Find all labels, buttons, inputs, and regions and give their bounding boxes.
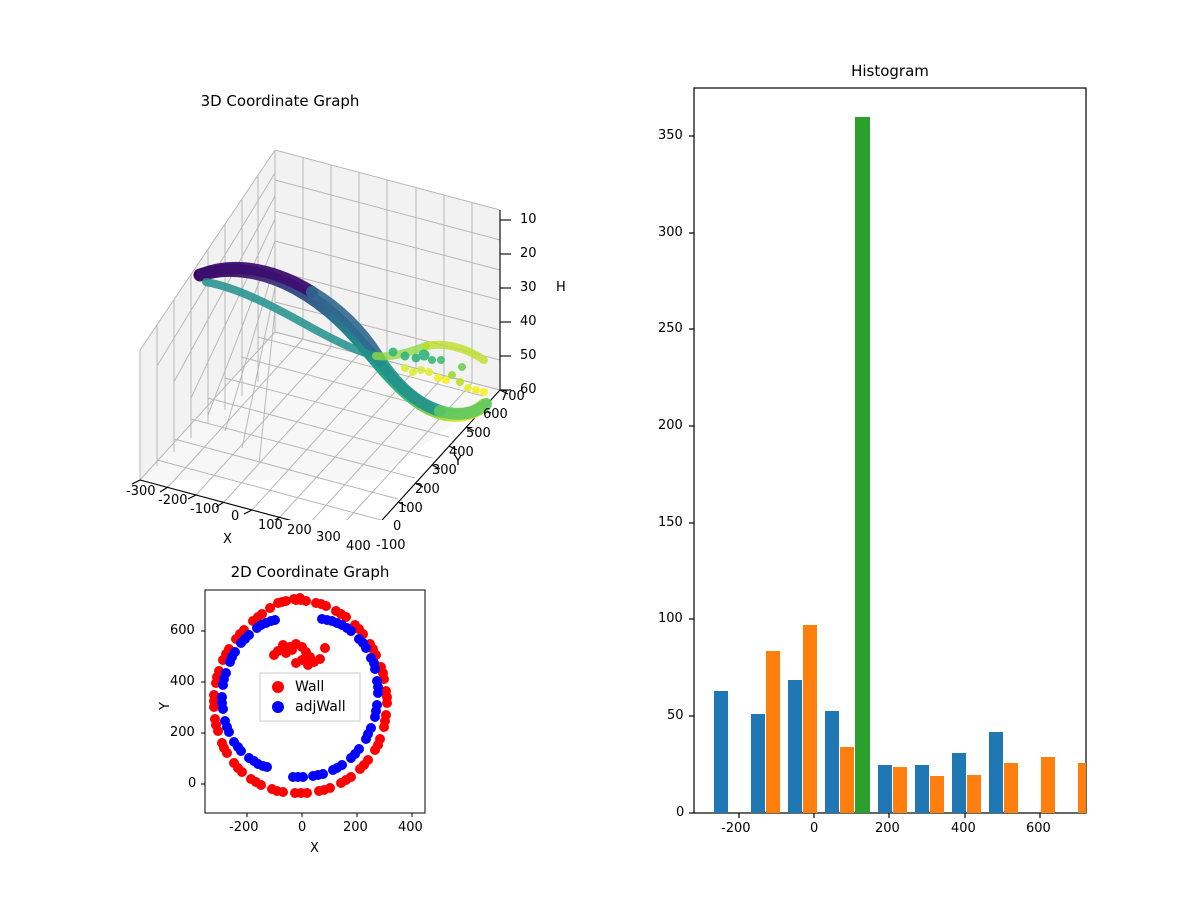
bar-orange-8: [1004, 763, 1018, 813]
tick-3d-x--100: -100: [190, 502, 220, 517]
plot-histogram: Histogram: [620, 55, 1180, 865]
tick-3d-x-0: 0: [231, 509, 239, 524]
tick-2d-y-400: 400: [170, 674, 195, 689]
tick-3d-x-200: 200: [287, 523, 312, 538]
tick-hist-x-0: 0: [810, 821, 818, 836]
ticks-y-hist: [689, 136, 694, 813]
tick-hist-y-50: 50: [667, 708, 684, 723]
tick-hist-y-100: 100: [658, 611, 683, 626]
legend-marker-wall: [272, 681, 284, 693]
bar-orange-2: [766, 651, 780, 813]
tick-hist-y-150: 150: [658, 515, 683, 530]
tick-3d-y-600: 600: [483, 407, 508, 422]
bar-blue-2: [751, 714, 765, 813]
tick-3d-y-0: 0: [393, 519, 401, 534]
tick-3d-x--200: -200: [158, 493, 188, 508]
tick-3d-z-20: 20: [520, 246, 537, 261]
bar-orange-5: [893, 767, 907, 813]
bar-blue-6: [915, 765, 929, 813]
plot-histogram-canvas: [620, 55, 1180, 865]
tick-3d-y-100: 100: [398, 501, 423, 516]
matplotlib-figure: 3D Coordinate Graph: [0, 0, 1200, 900]
bar-orange-10: [1078, 763, 1086, 813]
tick-3d-z-60: 60: [520, 382, 537, 397]
tick-3d-y-200: 200: [415, 482, 440, 497]
tick-2d-y-600: 600: [170, 623, 195, 638]
tick-hist-y-200: 200: [658, 418, 683, 433]
bar-orange-4: [840, 747, 854, 813]
tick-3d-x-400: 400: [346, 539, 371, 554]
plot-3d-coordinate-graph: 3D Coordinate Graph: [80, 60, 600, 520]
bar-orange-3: [803, 625, 817, 813]
plot-2d-coordinate-graph: 2D Coordinate Graph: [150, 555, 480, 875]
axis-label-3d-x: X: [223, 532, 232, 547]
tick-3d-x-300: 300: [316, 530, 341, 545]
plot-2d-canvas: [150, 555, 480, 875]
tick-2d-x-400: 400: [398, 820, 423, 835]
bar-blue-7: [952, 753, 966, 813]
tick-hist-x-200: 200: [875, 821, 900, 836]
bar-orange-7: [967, 775, 981, 813]
legend-label-adjwall: adjWall: [295, 699, 346, 715]
tick-2d-x-200: 200: [343, 820, 368, 835]
axis-label-3d-y: Y: [454, 454, 462, 469]
tick-3d-y-500: 500: [466, 426, 491, 441]
tick-2d-y-0: 0: [188, 776, 196, 791]
ticks-x-hist: [739, 813, 1040, 818]
tick-hist-y-300: 300: [658, 225, 683, 240]
tick-3d-y--100: -100: [376, 538, 406, 553]
bar-orange-6: [930, 776, 944, 813]
bar-blue-5: [878, 765, 892, 813]
tick-3d-z-40: 40: [520, 314, 537, 329]
bar-orange-9: [1041, 757, 1055, 813]
tick-3d-x-100: 100: [258, 518, 283, 533]
tick-3d-z-50: 50: [520, 348, 537, 363]
bar-blue-3: [788, 680, 802, 813]
tick-3d-z-30: 30: [520, 280, 537, 295]
tick-2d-y-200: 200: [170, 725, 195, 740]
tick-3d-x--300: -300: [126, 484, 156, 499]
tick-hist-x-600: 600: [1026, 821, 1051, 836]
pane-group: [140, 150, 500, 480]
tick-hist-x--200: -200: [721, 821, 751, 836]
tick-3d-z-10: 10: [520, 212, 537, 227]
axis-label-2d-y: Y: [158, 702, 173, 710]
tick-2d-x-0: 0: [298, 820, 306, 835]
tick-hist-x-400: 400: [951, 821, 976, 836]
tick-hist-y-0: 0: [676, 805, 684, 820]
ticks-z-3d: [500, 220, 511, 390]
axis-label-2d-x: X: [310, 841, 319, 856]
bar-blue-1: [714, 691, 728, 813]
tick-hist-y-250: 250: [658, 321, 683, 336]
legend-label-wall: Wall: [295, 679, 324, 695]
tick-2d-x--200: -200: [229, 820, 259, 835]
bar-blue-4: [825, 711, 839, 813]
tick-hist-y-350: 350: [658, 128, 683, 143]
bar-green-peak: [855, 117, 870, 813]
axis-label-3d-z: H: [556, 280, 566, 295]
bar-blue-8: [989, 732, 1003, 813]
legend-marker-adjwall: [272, 701, 284, 713]
